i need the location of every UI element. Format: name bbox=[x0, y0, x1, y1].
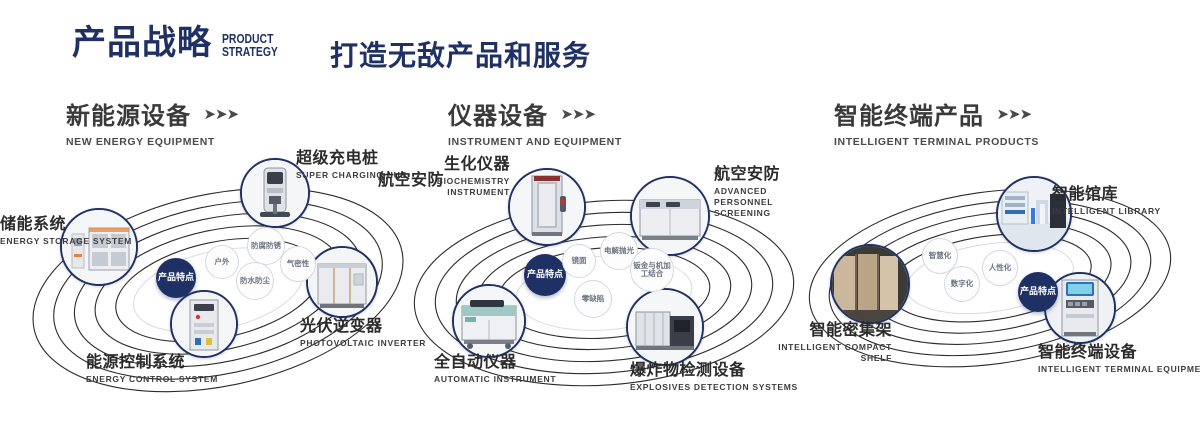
feature-bubble-label: 数字化 bbox=[949, 280, 976, 288]
cluster-intelligent-terminal: 智能馆库 INTELLIGENT LIBRARY 智能密集架 INTELLIGE… bbox=[800, 168, 1200, 428]
page-title: 产品战略 bbox=[72, 26, 212, 60]
cluster-instrument: 航空安防 生化仪器 BIOCHEMISTRY INSTRUMENT 航空安 bbox=[404, 158, 804, 418]
label-cn: 智能密集架 bbox=[758, 322, 892, 340]
chevron-right-icon: ➤➤➤ bbox=[996, 105, 1031, 123]
section-title-en: NEW ENERGY EQUIPMENT bbox=[66, 136, 238, 148]
feature-bubble: 数字化 bbox=[944, 266, 980, 302]
label-cn: 全自动仪器 bbox=[434, 354, 556, 372]
cluster-new-energy: 储能系统 ENERGY STORAGE SYSTEM 超级充电桩 SUPER C… bbox=[18, 150, 418, 410]
feature-bubble-label: 电解抛光 bbox=[602, 247, 636, 255]
feature-bubble-label: 防水防尘 bbox=[238, 277, 272, 285]
core-bubble-label: 产品特点 bbox=[156, 273, 196, 283]
explosive-detector-icon bbox=[628, 290, 702, 364]
label-en: INTELLIGENT COMPACT SHELF bbox=[758, 342, 892, 363]
node-automatic-instrument[interactable] bbox=[452, 284, 526, 358]
compact-shelf-icon bbox=[832, 246, 908, 322]
label-cn: 爆炸物检测设备 bbox=[630, 362, 798, 380]
feature-bubble: 人性化 bbox=[982, 250, 1018, 286]
node-photovoltaic-inverter[interactable] bbox=[306, 246, 378, 318]
node-biochemistry-instrument[interactable] bbox=[508, 168, 586, 246]
node-explosives-detection-systems[interactable] bbox=[626, 288, 704, 366]
feature-bubble: 气密性 bbox=[280, 246, 316, 282]
feature-bubble-label: 人性化 bbox=[987, 264, 1014, 272]
label-intelligent-compact-shelf: 智能密集架 INTELLIGENT COMPACT SHELF bbox=[758, 322, 892, 364]
feature-bubble: 户外 bbox=[205, 245, 239, 279]
label-cn: 能源控制系统 bbox=[86, 354, 218, 372]
node-energy-control-system[interactable] bbox=[170, 290, 238, 358]
core-bubble: 产品特点 bbox=[156, 258, 196, 298]
label-explosives-detection-systems: 爆炸物检测设备 EXPLOSIVES DETECTION SYSTEMS bbox=[630, 362, 798, 393]
section-title-cn: 新能源设备 bbox=[66, 96, 191, 131]
label-automatic-instrument: 全自动仪器 AUTOMATIC INSTRUMENT bbox=[434, 354, 556, 385]
node-advanced-personnel-screening[interactable] bbox=[630, 176, 710, 256]
feature-bubble-label: 钣金与机加工结合 bbox=[631, 262, 673, 279]
product-strategy-infographic: 产品战略 PRODUCT STRATEGY 打造无敌产品和服务 新能源设备 ➤➤… bbox=[0, 0, 1200, 422]
auto-analyzer-icon bbox=[454, 286, 524, 356]
security-gate-icon bbox=[510, 170, 584, 244]
feature-bubble-label: 户外 bbox=[213, 258, 232, 266]
feature-bubble-label: 镜面 bbox=[570, 257, 589, 265]
core-bubble-label: 产品特点 bbox=[525, 270, 565, 280]
label-energy-control-system: 能源控制系统 ENERGY CONTROL SYSTEM bbox=[86, 354, 218, 385]
screening-machine-icon bbox=[632, 178, 708, 254]
section-title-cn: 智能终端产品 bbox=[834, 96, 984, 131]
label-cn: 智能馆库 bbox=[1052, 186, 1161, 204]
core-bubble-label: 产品特点 bbox=[1018, 287, 1058, 297]
label-cn: 超级充电桩 bbox=[296, 150, 407, 168]
pv-inverter-cabinet-icon bbox=[308, 248, 376, 316]
label-energy-storage-system: 储能系统 ENERGY STORAGE SYSTEM bbox=[0, 216, 60, 247]
energy-storage-cabinet-icon bbox=[62, 210, 136, 284]
section-title-en: INSTRUMENT AND EQUIPMENT bbox=[448, 136, 622, 148]
label-cn: 航空安防 bbox=[714, 166, 810, 184]
chevron-right-icon: ➤➤➤ bbox=[560, 105, 595, 123]
label-en: INTELLIGENT LIBRARY bbox=[1052, 206, 1161, 217]
node-intelligent-compact-shelf[interactable] bbox=[830, 244, 910, 324]
core-bubble: 产品特点 bbox=[1018, 272, 1058, 312]
label-biochemistry-instrument: 生化仪器 BIOCHEMISTRY INSTRUMENT bbox=[418, 156, 510, 198]
page-title-english: PRODUCT STRATEGY bbox=[222, 32, 278, 58]
node-energy-storage-system[interactable] bbox=[60, 208, 138, 286]
label-en: ENERGY STORAGE SYSTEM bbox=[0, 236, 60, 247]
feature-bubble-label: 防腐防锈 bbox=[249, 242, 283, 250]
feature-bubble: 防水防尘 bbox=[236, 262, 274, 300]
label-en: EXPLOSIVES DETECTION SYSTEMS bbox=[630, 382, 798, 393]
label-cn: 储能系统 bbox=[0, 216, 60, 234]
feature-bubble-label: 智慧化 bbox=[927, 252, 954, 260]
label-en: ADVANCED PERSONNEL SCREENING bbox=[714, 186, 810, 218]
label-intelligent-terminal-equipment: 智能终端设备 INTELLIGENT TERMINAL EQUIPMENT bbox=[1038, 344, 1200, 375]
feature-bubble: 镜面 bbox=[562, 244, 596, 278]
section-title-cn: 仪器设备 bbox=[448, 96, 548, 131]
core-bubble: 产品特点 bbox=[524, 254, 566, 296]
label-advanced-personnel-screening: 航空安防 ADVANCED PERSONNEL SCREENING bbox=[714, 166, 810, 218]
section-header-new-energy: 新能源设备 ➤➤➤ NEW ENERGY EQUIPMENT bbox=[66, 96, 238, 148]
page-title-english-line2: STRATEGY bbox=[222, 45, 278, 58]
feature-bubble: 零缺陷 bbox=[574, 280, 612, 318]
label-en: ENERGY CONTROL SYSTEM bbox=[86, 374, 218, 385]
label-cn: 智能终端设备 bbox=[1038, 344, 1200, 362]
section-header-instrument: 仪器设备 ➤➤➤ INSTRUMENT AND EQUIPMENT bbox=[448, 96, 622, 148]
page-header: 产品战略 PRODUCT STRATEGY bbox=[72, 26, 292, 60]
label-en: BIOCHEMISTRY INSTRUMENT bbox=[418, 176, 510, 197]
label-cn: 生化仪器 bbox=[418, 156, 510, 174]
label-intelligent-library: 智能馆库 INTELLIGENT LIBRARY bbox=[1052, 186, 1161, 217]
feature-bubble: 钣金与机加工结合 bbox=[630, 248, 674, 292]
feature-bubble-label: 气密性 bbox=[285, 260, 312, 268]
section-title-en: INTELLIGENT TERMINAL PRODUCTS bbox=[834, 136, 1039, 148]
label-en: AUTOMATIC INSTRUMENT bbox=[434, 374, 556, 385]
feature-bubble: 防腐防锈 bbox=[247, 227, 285, 265]
chevron-right-icon: ➤➤➤ bbox=[203, 105, 238, 123]
label-en: INTELLIGENT TERMINAL EQUIPMENT bbox=[1038, 364, 1200, 375]
page-slogan: 打造无敌产品和服务 bbox=[330, 34, 591, 74]
feature-bubble-label: 零缺陷 bbox=[580, 295, 607, 303]
control-cabinet-icon bbox=[172, 292, 236, 356]
section-header-intelligent-terminal: 智能终端产品 ➤➤➤ INTELLIGENT TERMINAL PRODUCTS bbox=[834, 96, 1039, 148]
